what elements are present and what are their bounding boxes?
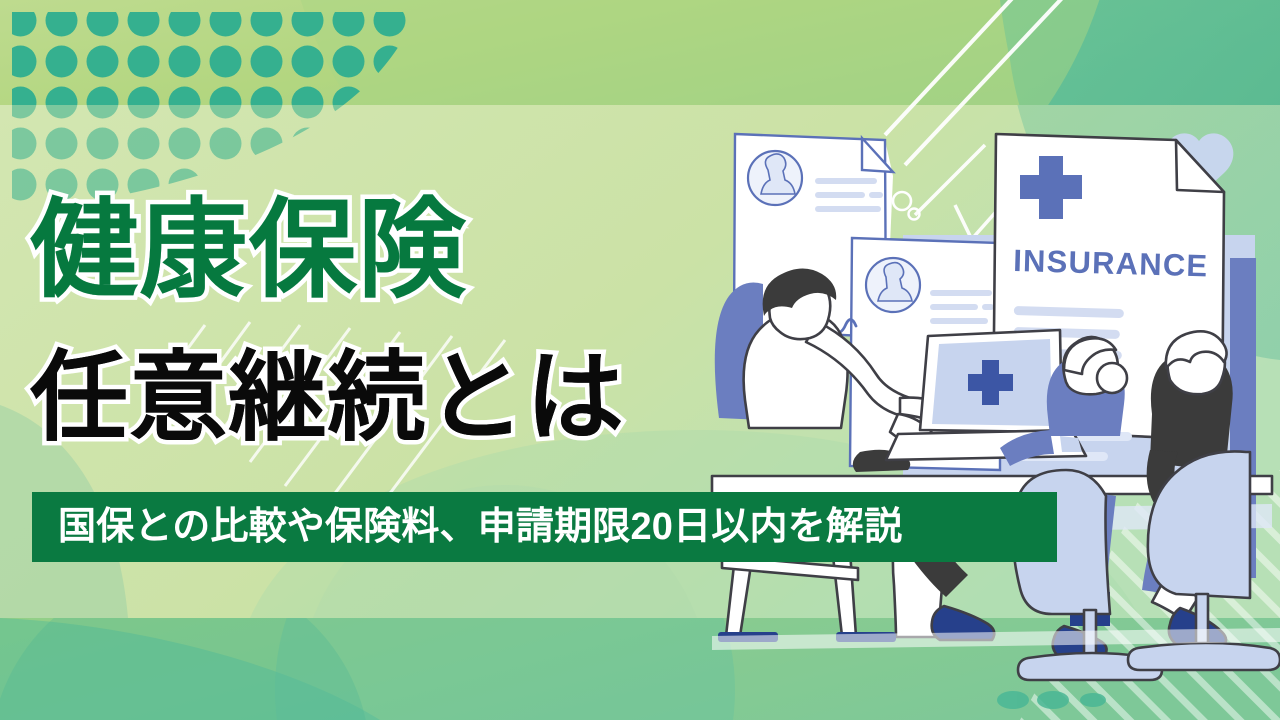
- insurance-label: INSURANCE: [1013, 243, 1209, 283]
- hero-banner: .ol{stroke:#3f3f46;stroke-width:2.6;stro…: [0, 0, 1280, 720]
- insurance-consultation-scene: .ol{stroke:#3f3f46;stroke-width:2.6;stro…: [0, 0, 1280, 720]
- subtitle-banner: 国保との比較や保険料、申請期限20日以内を解説: [32, 492, 1057, 562]
- bubble-circle-small: [909, 209, 920, 220]
- subtitle-text: 国保との比較や保険料、申請期限20日以内を解説: [58, 508, 902, 546]
- bubble-circle-large: [893, 192, 911, 210]
